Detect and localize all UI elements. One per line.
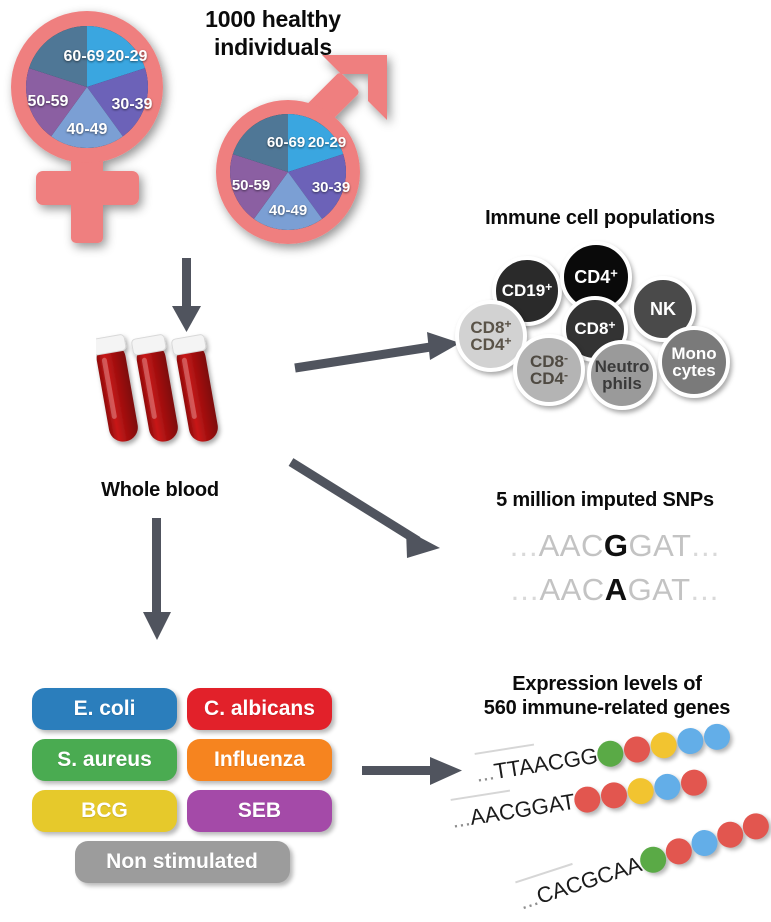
snp-suffix: GAT	[628, 572, 691, 607]
snp-sequence-row: ...AACAGAT...	[470, 572, 760, 608]
gene-bead	[676, 726, 706, 756]
male-symbol: 60-69 20-29 50-59 30-39 40-49	[205, 52, 395, 252]
male-age-pie	[230, 114, 346, 230]
blood-tubes-svg	[96, 330, 236, 470]
male-symbol-svg	[205, 52, 395, 252]
stimuli-row: E. coliC. albicans	[32, 688, 332, 730]
gene-bead	[653, 772, 683, 802]
snp-variant-base: A	[605, 572, 628, 607]
expression-title-line2: 560 immune-related genes	[450, 696, 764, 720]
snp-sequence-row: ...AACGGAT...	[470, 528, 760, 564]
gene-bead	[740, 810, 771, 843]
snp-ellipsis-left: ...	[511, 572, 540, 607]
gene-bead	[573, 785, 603, 815]
gene-bead	[596, 739, 626, 769]
snp-prefix: AAC	[539, 572, 604, 607]
stimuli-row: BCGSEB	[32, 790, 332, 832]
stimulus-non-stimulated[interactable]: Non stimulated	[75, 841, 290, 883]
stimulus-s-aureus[interactable]: S. aureus	[32, 739, 177, 781]
stimulus-seb[interactable]: SEB	[187, 790, 332, 832]
immune-cell-label: CD19+	[502, 282, 553, 299]
stimuli-row: Non stimulated	[32, 841, 332, 883]
snp-ellipsis-right: ...	[691, 572, 720, 607]
snps-title: 5 million imputed SNPs	[450, 488, 760, 512]
immune-cell-label: CD4+	[574, 268, 618, 286]
stimulus-influenza[interactable]: Influenza	[187, 739, 332, 781]
gene-bead	[679, 768, 709, 798]
expression-strands: ...TTAACGG...AACGGAT...CACGCAA	[448, 740, 771, 915]
immune-cell-label: NK	[650, 300, 676, 318]
snp-suffix: GAT	[628, 528, 691, 563]
immune-cell-neutro-phils[interactable]: Neutrophils	[587, 340, 657, 410]
stimulus-bcg[interactable]: BCG	[32, 790, 177, 832]
diagram-canvas: 60-69 20-29 50-59 30-39 40-49	[0, 0, 771, 922]
arrow-individuals-to-blood	[160, 258, 220, 338]
female-age-pie	[26, 26, 148, 148]
arrow-blood-to-snps	[288, 456, 448, 566]
strand-sequence: ...CACGCAA	[516, 851, 645, 915]
gene-bead	[702, 722, 732, 752]
immune-cell-label: CD8-CD4-	[530, 353, 568, 388]
immune-cell-label: CD8+	[574, 320, 615, 337]
gene-bead	[649, 730, 679, 760]
arrow-blood-to-immune-cells	[292, 330, 467, 380]
snp-sequences: ...AACGGAT......AACAGAT...	[470, 528, 760, 614]
gene-bead	[626, 776, 656, 806]
blood-tube-3	[171, 334, 222, 444]
strand-beads	[636, 810, 771, 876]
strand-ellipsis: ...	[450, 805, 472, 833]
strand-ellipsis: ...	[474, 759, 496, 787]
immune-cell-label: CD8+CD4+	[470, 319, 511, 354]
snp-prefix: AAC	[539, 528, 604, 563]
stimulus-e-coli[interactable]: E. coli	[32, 688, 177, 730]
expression-title-line1: Expression levels of	[450, 672, 764, 696]
immune-cell-label: Neutrophils	[595, 358, 650, 393]
stimuli-row: S. aureusInfluenza	[32, 739, 332, 781]
snp-variant-base: G	[604, 528, 629, 563]
gene-bead	[599, 780, 629, 810]
expression-title: Expression levels of 560 immune-related …	[450, 672, 764, 720]
snp-ellipsis-left: ...	[510, 528, 539, 563]
blood-tubes	[96, 330, 236, 475]
immune-cell-cluster: CD19+CD4+NKCD8+CD8+CD4+CD8-CD4-Neutrophi…	[455, 238, 765, 418]
immune-cell-populations-title: Immune cell populations	[440, 206, 760, 230]
stimuli-panel: E. coliC. albicansS. aureusInfluenzaBCGS…	[32, 688, 332, 892]
arrow-blood-to-stimuli	[130, 518, 190, 643]
expression-strand: ...CACGCAA	[516, 810, 771, 915]
gene-bead	[622, 735, 652, 765]
immune-cell-label: Monocytes	[671, 345, 716, 380]
strand-beads	[572, 768, 709, 815]
immune-cell-mono-cytes[interactable]: Monocytes	[658, 326, 730, 398]
page-title: 1000 healthy individuals	[168, 6, 378, 61]
strand-ellipsis: ...	[516, 885, 541, 914]
whole-blood-label: Whole blood	[60, 478, 260, 502]
stimulus-c-albicans[interactable]: C. albicans	[187, 688, 332, 730]
immune-cell-cd8-cd4[interactable]: CD8-CD4-	[513, 334, 585, 406]
snp-ellipsis-right: ...	[691, 528, 720, 563]
strand-beads	[595, 722, 732, 769]
